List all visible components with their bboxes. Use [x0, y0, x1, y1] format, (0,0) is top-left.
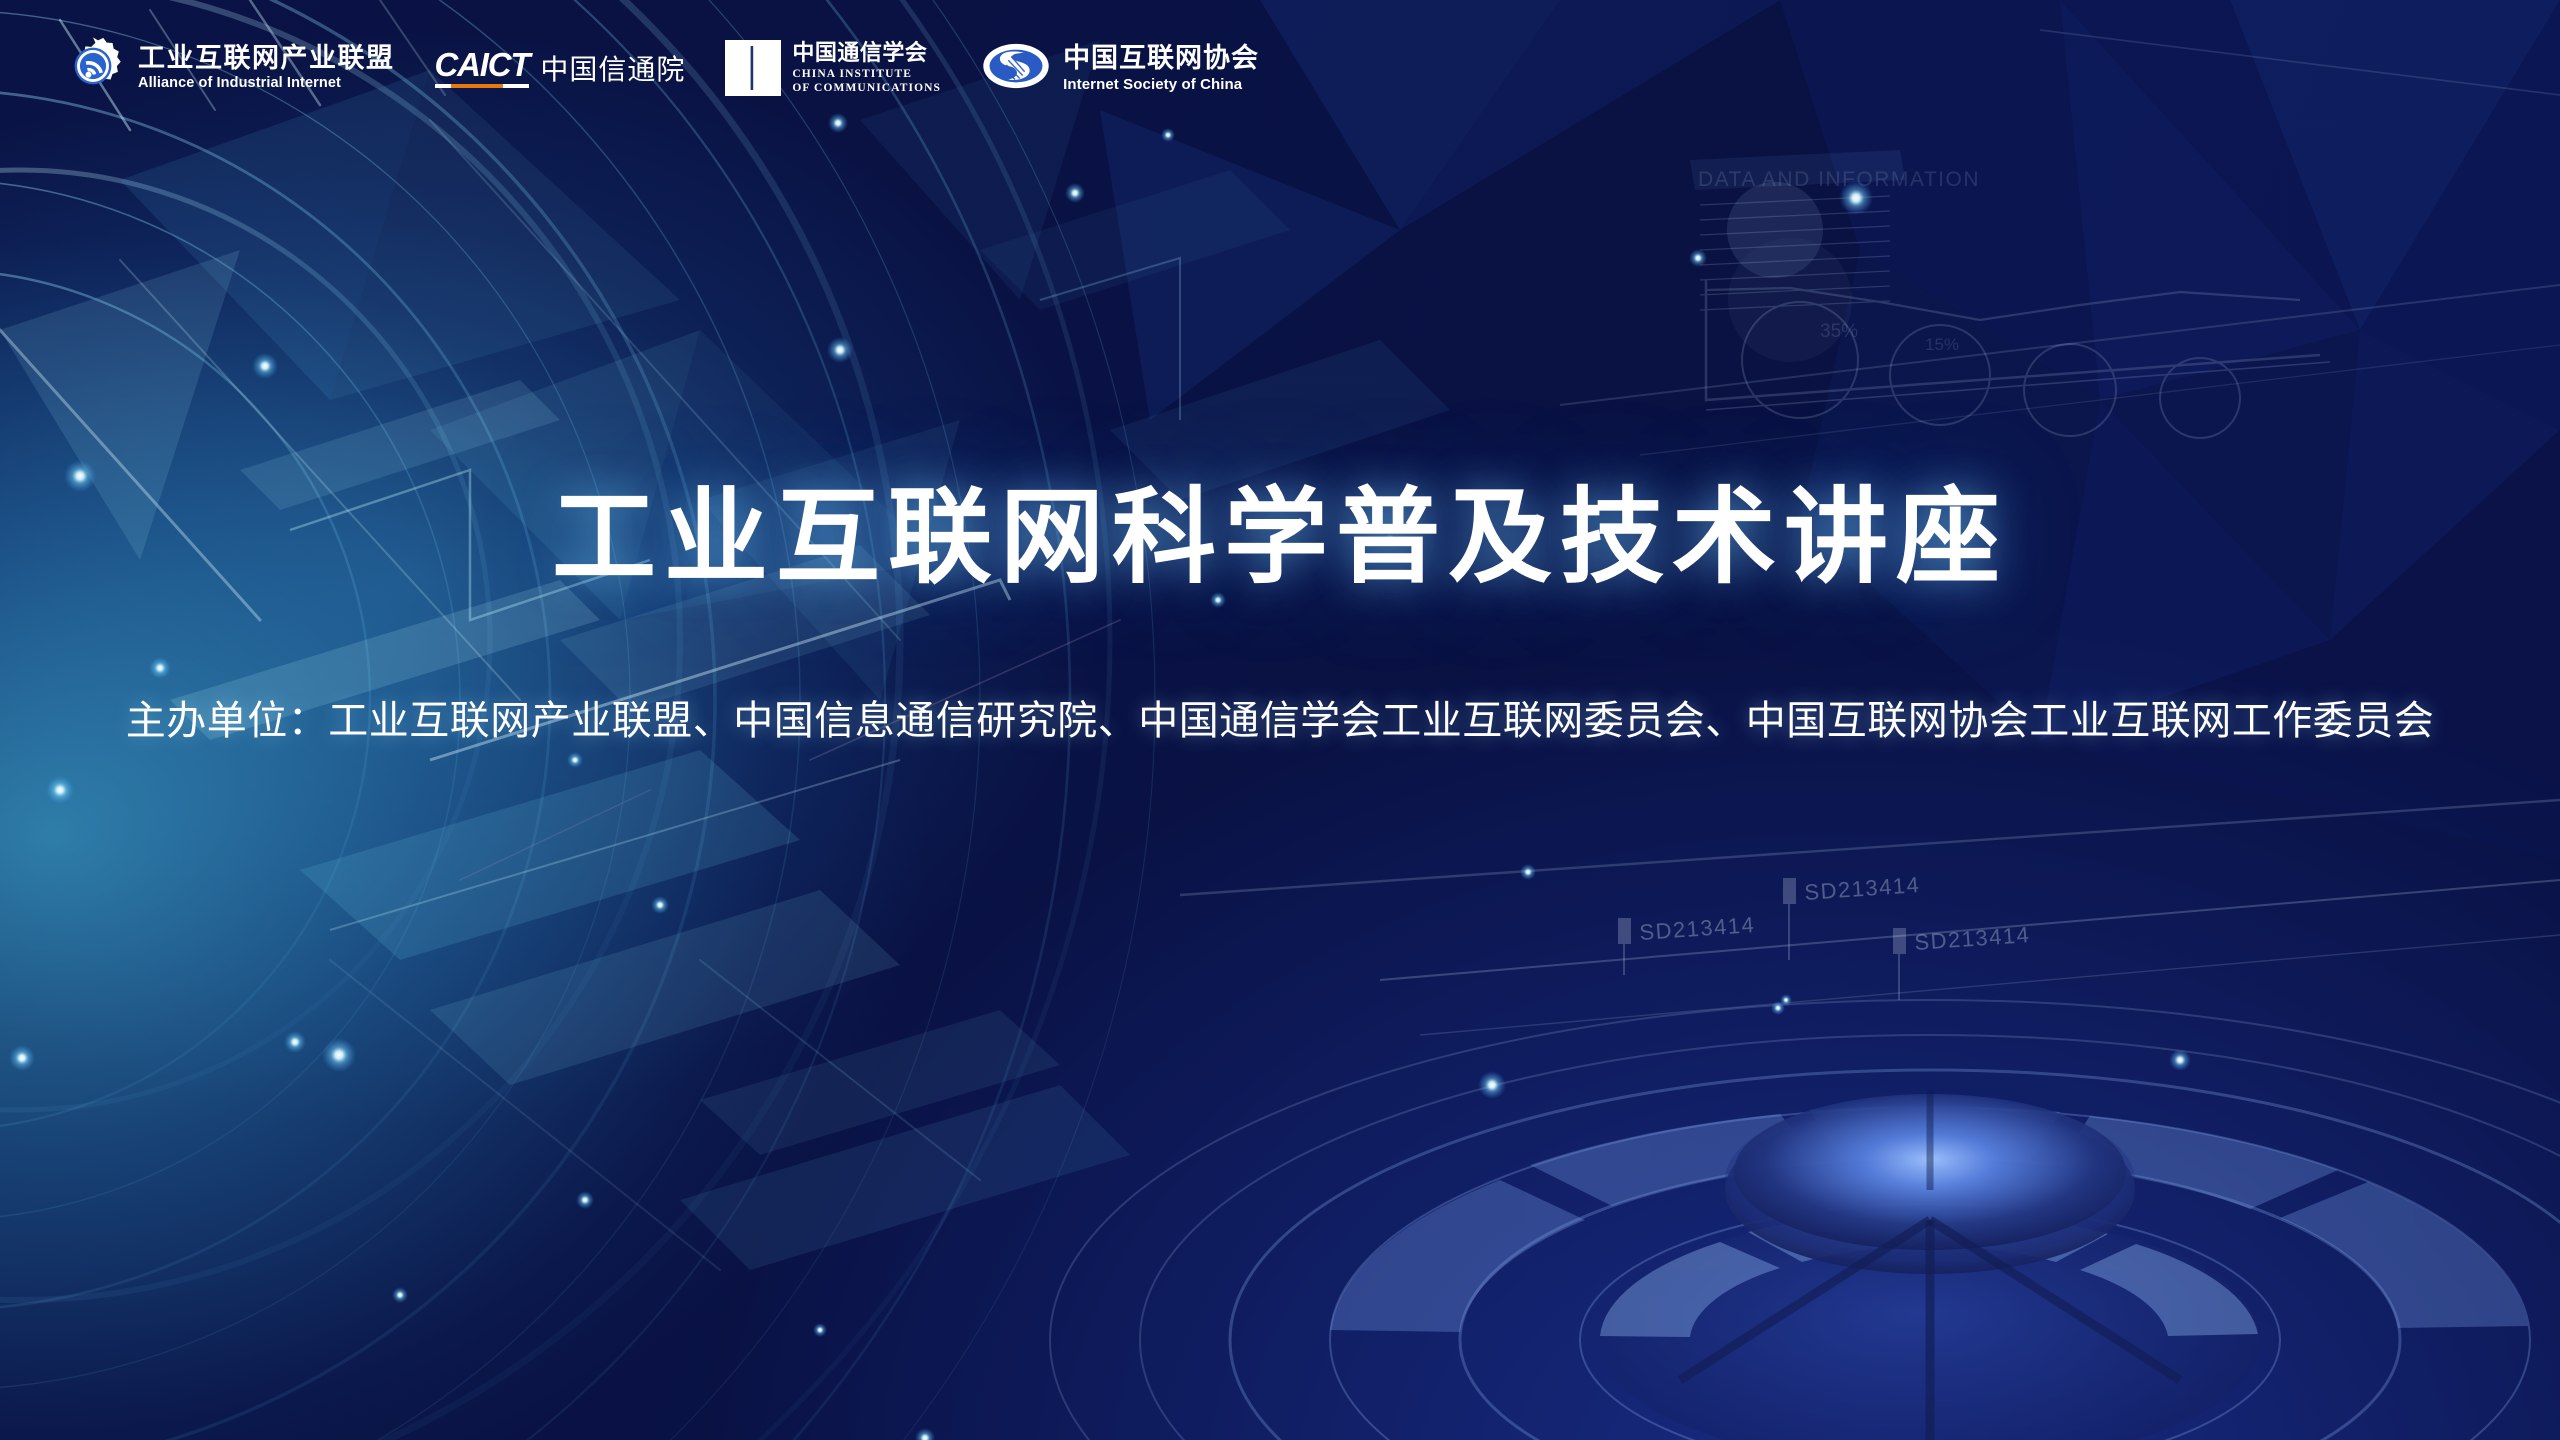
- logo-isc-name-cn: 中国互联网协会: [1063, 45, 1259, 72]
- logo-cic-name-cn: 中国通信学会: [792, 42, 941, 64]
- cic-monogram-icon: [725, 40, 781, 96]
- logo-cic-name-en-line2: OF COMMUNICATIONS: [792, 83, 941, 95]
- logo-internet-society-of-china: 中国互联网协会 Internet Society of China: [981, 28, 1259, 108]
- logo-isc-name-en: Internet Society of China: [1063, 77, 1259, 92]
- logo-cic-name-en-line1: CHINA INSTITUTE: [792, 69, 941, 81]
- slide-canvas: DATA AND INFORMATION 35% 15% SD213414 SD…: [0, 0, 2560, 1440]
- logo-china-institute-of-communications: 中国通信学会 CHINA INSTITUTE OF COMMUNICATIONS: [725, 28, 941, 108]
- logo-aii-name-en: Alliance of Industrial Internet: [138, 76, 395, 91]
- svg-text:DATA AND INFORMATION: DATA AND INFORMATION: [1698, 168, 1980, 191]
- sponsor-logo-bar: 工业互联网产业联盟 Alliance of Industrial Interne…: [62, 28, 1259, 108]
- svg-text:SD213414: SD213414: [1639, 912, 1756, 945]
- svg-text:SD213414: SD213414: [1804, 872, 1921, 905]
- logo-alliance-of-industrial-internet: 工业互联网产业联盟 Alliance of Industrial Interne…: [62, 28, 395, 108]
- logo-caict: CAICT 中国信通院: [435, 28, 686, 108]
- logo-aii-name-cn: 工业互联网产业联盟: [138, 45, 395, 72]
- slide-subtitle-organizers: 主办单位：工业互联网产业联盟、中国信息通信研究院、中国通信学会工业互联网委员会、…: [0, 688, 2560, 746]
- logo-caict-wordmark: CAICT: [435, 48, 530, 81]
- svg-text:SD213414: SD213414: [1914, 922, 2031, 955]
- isc-oval-swirl-icon: [981, 41, 1051, 96]
- svg-text:15%: 15%: [1925, 335, 1959, 354]
- caict-wordmark-icon: CAICT: [435, 48, 530, 88]
- gear-wifi-icon: [62, 35, 124, 102]
- slide-title: 工业互联网科学普及技术讲座: [0, 452, 2560, 603]
- svg-text:35%: 35%: [1820, 321, 1858, 342]
- logo-caict-rule: [435, 84, 530, 88]
- logo-caict-name-cn: 中国信通院: [540, 48, 685, 88]
